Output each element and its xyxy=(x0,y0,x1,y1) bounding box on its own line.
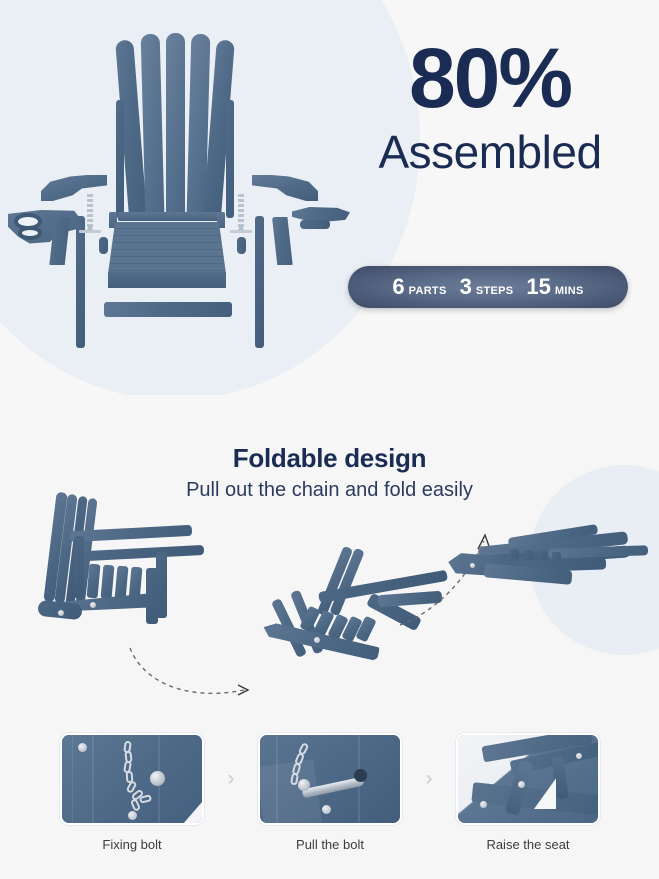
exploded-chair-parts-illustration xyxy=(0,22,340,382)
caption-raise-the-seat: Raise the seat xyxy=(456,837,600,852)
step-separator-1: › xyxy=(228,767,235,791)
mins-unit: MINS xyxy=(555,285,584,297)
steps-count: 3 xyxy=(460,274,472,300)
bolt-hole xyxy=(354,769,367,782)
fold-arrow-1 xyxy=(126,640,266,710)
armrest-left-part xyxy=(41,175,107,201)
step-caption-row: Fixing bolt Pull the bolt Raise the seat xyxy=(60,837,600,852)
step-thumbnail-pull-the-bolt[interactable] xyxy=(258,733,402,825)
badge-item-mins: 15 MINS xyxy=(526,274,583,300)
assembly-steps-section: › › xyxy=(0,715,659,879)
caption-pull-the-bolt: Pull the bolt xyxy=(258,837,402,852)
step-thumbnail-fixing-bolt[interactable] xyxy=(60,733,204,825)
caption-spacer-1 xyxy=(219,837,243,852)
step-thumbnail-raise-the-seat[interactable] xyxy=(456,733,600,825)
cup-holder-part xyxy=(8,207,80,245)
mins-count: 15 xyxy=(526,274,550,300)
parts-count: 6 xyxy=(392,274,404,300)
hero-headline: 80% Assembled xyxy=(340,38,640,179)
seat-assembly-part xyxy=(108,212,226,292)
foldable-heading: Foldable design xyxy=(0,443,659,474)
steps-unit: STEPS xyxy=(476,285,514,297)
caption-spacer-2 xyxy=(417,837,441,852)
step-thumbnail-row: › › xyxy=(60,733,600,825)
step-separator-2: › xyxy=(426,767,433,791)
foldable-design-section: Foldable design Pull out the chain and f… xyxy=(0,395,659,715)
armrest-right-part xyxy=(252,175,318,201)
assembly-hero-section: 80% Assembled 6 PARTS 3 STEPS 15 MINS xyxy=(0,0,659,395)
caption-fixing-bolt: Fixing bolt xyxy=(60,837,204,852)
badge-item-parts: 6 PARTS xyxy=(392,274,446,300)
percent-assembled-value: 80% xyxy=(340,38,640,119)
fold-stage-1-upright-chair xyxy=(28,490,218,650)
parts-unit: PARTS xyxy=(409,285,447,297)
fold-stage-3-folded-flat xyxy=(448,525,648,605)
badge-item-steps: 3 STEPS xyxy=(460,274,514,300)
bolt-head xyxy=(150,771,165,786)
assembly-stats-badge: 6 PARTS 3 STEPS 15 MINS xyxy=(348,266,628,308)
assembled-label: Assembled xyxy=(340,125,640,179)
